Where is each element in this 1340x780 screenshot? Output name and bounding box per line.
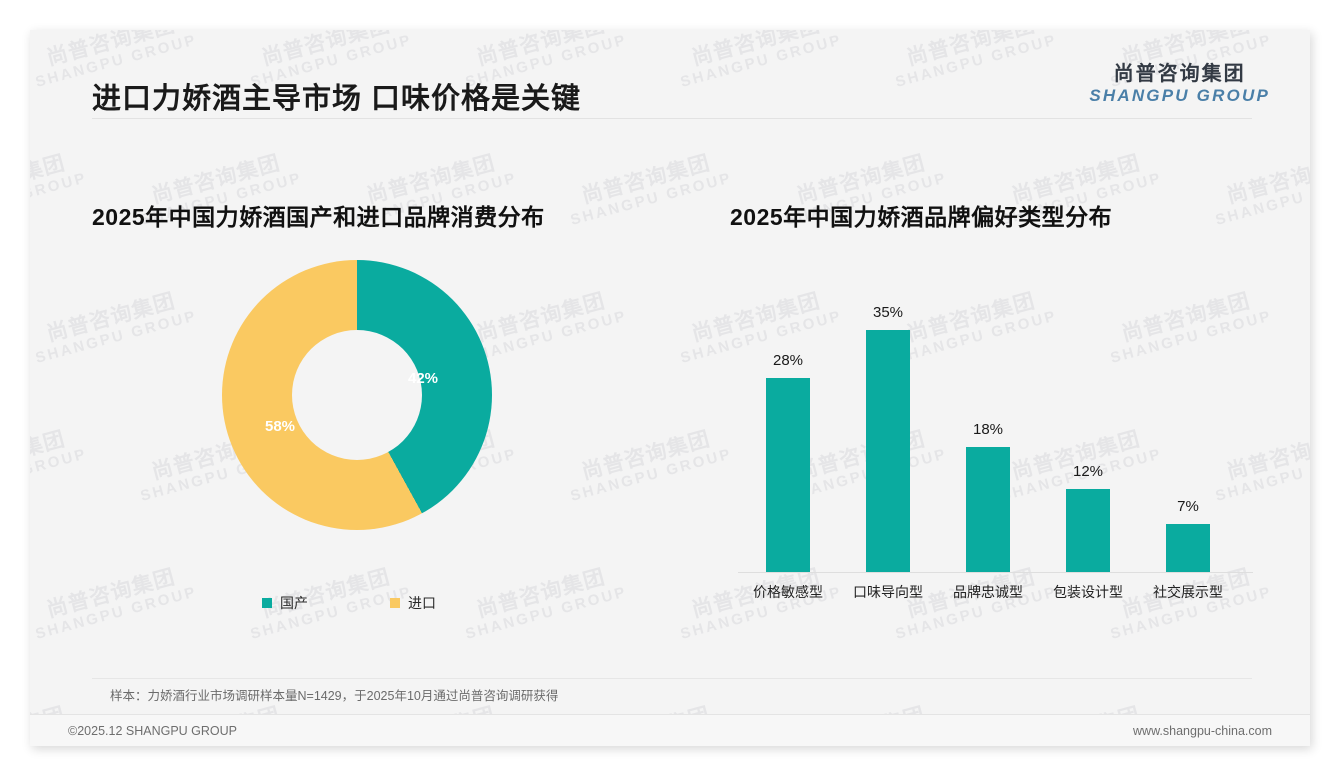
bar-category-label: 品牌忠诚型 bbox=[938, 582, 1038, 602]
bar-chart-panel: 2025年中国力娇酒品牌偏好类型分布 28%35%18%12%7% 价格敏感型口… bbox=[730, 198, 1270, 668]
logo-english-text: SHANGPU GROUP bbox=[1089, 86, 1270, 106]
bar-value-label: 12% bbox=[1038, 463, 1138, 480]
watermark-tile: 尚普咨询集团SHANGPU GROUP bbox=[30, 147, 89, 229]
footer-website[interactable]: www.shangpu-china.com bbox=[1133, 724, 1272, 738]
bar-category-label: 包装设计型 bbox=[1038, 582, 1138, 602]
bar-chart-title: 2025年中国力娇酒品牌偏好类型分布 bbox=[730, 198, 1270, 232]
donut-legend: 国产 进口 bbox=[262, 593, 436, 613]
bar-category-label: 口味导向型 bbox=[838, 582, 938, 602]
bar-value-label: 7% bbox=[1138, 498, 1238, 515]
donut-chart-title: 2025年中国力娇酒国产和进口品牌消费分布 bbox=[92, 198, 672, 232]
bar-value-label: 18% bbox=[938, 421, 1038, 438]
bar-column[interactable]: 12% bbox=[1038, 260, 1138, 572]
donut-slice-label-domestic: 42% bbox=[408, 370, 438, 387]
logo-chinese-text: 尚普咨询集团 bbox=[1089, 63, 1270, 86]
bar-column[interactable]: 18% bbox=[938, 260, 1038, 572]
slide-card: 尚普咨询集团SHANGPU GROUP尚普咨询集团SHANGPU GROUP尚普… bbox=[30, 30, 1310, 746]
slide-header: 进口力娇酒主导市场 口味价格是关键 尚普咨询集团 SHANGPU GROUP bbox=[30, 30, 1310, 116]
bar-category-label: 社交展示型 bbox=[1138, 582, 1238, 602]
legend-swatch-icon bbox=[390, 598, 400, 608]
bar-chart-x-tick-labels: 价格敏感型口味导向型品牌忠诚型包装设计型社交展示型 bbox=[738, 582, 1258, 606]
legend-label: 国产 bbox=[280, 593, 308, 613]
bar-chart-x-axis bbox=[738, 572, 1253, 573]
bar[interactable] bbox=[1166, 524, 1210, 572]
bar-column[interactable]: 35% bbox=[838, 260, 938, 572]
footer-copyright: ©2025.12 SHANGPU GROUP bbox=[68, 724, 237, 738]
bar[interactable] bbox=[866, 330, 910, 572]
legend-item-domestic[interactable]: 国产 bbox=[262, 593, 308, 613]
bar[interactable] bbox=[766, 378, 810, 572]
header-divider bbox=[92, 118, 1252, 119]
donut-slice-label-imported: 58% bbox=[265, 418, 295, 435]
legend-label: 进口 bbox=[408, 593, 436, 613]
note-divider bbox=[92, 678, 1252, 679]
brand-logo: 尚普咨询集团 SHANGPU GROUP bbox=[1089, 63, 1270, 106]
legend-swatch-icon bbox=[262, 598, 272, 608]
bar[interactable] bbox=[1066, 489, 1110, 572]
watermark-tile: 尚普咨询集团SHANGPU GROUP bbox=[30, 423, 89, 505]
legend-item-imported[interactable]: 进口 bbox=[390, 593, 436, 613]
bar[interactable] bbox=[966, 447, 1010, 572]
bar-chart-plot-area: 28%35%18%12%7% bbox=[738, 260, 1258, 572]
bar-column[interactable]: 7% bbox=[1138, 260, 1238, 572]
donut-hole bbox=[292, 330, 422, 460]
bar-category-label: 价格敏感型 bbox=[738, 582, 838, 602]
donut-chart-panel: 2025年中国力娇酒国产和进口品牌消费分布 42% 58% 国产 进口 bbox=[92, 198, 672, 668]
page-title: 进口力娇酒主导市场 口味价格是关键 bbox=[92, 75, 581, 117]
bar-value-label: 28% bbox=[738, 352, 838, 369]
bar-value-label: 35% bbox=[838, 304, 938, 321]
slide-footer: ©2025.12 SHANGPU GROUP www.shangpu-china… bbox=[30, 714, 1310, 746]
donut-chart: 42% 58% bbox=[222, 260, 492, 530]
bar-column[interactable]: 28% bbox=[738, 260, 838, 572]
sample-note: 样本：力娇酒行业市场调研样本量N=1429，于2025年10月通过尚普咨询调研获… bbox=[110, 685, 558, 704]
